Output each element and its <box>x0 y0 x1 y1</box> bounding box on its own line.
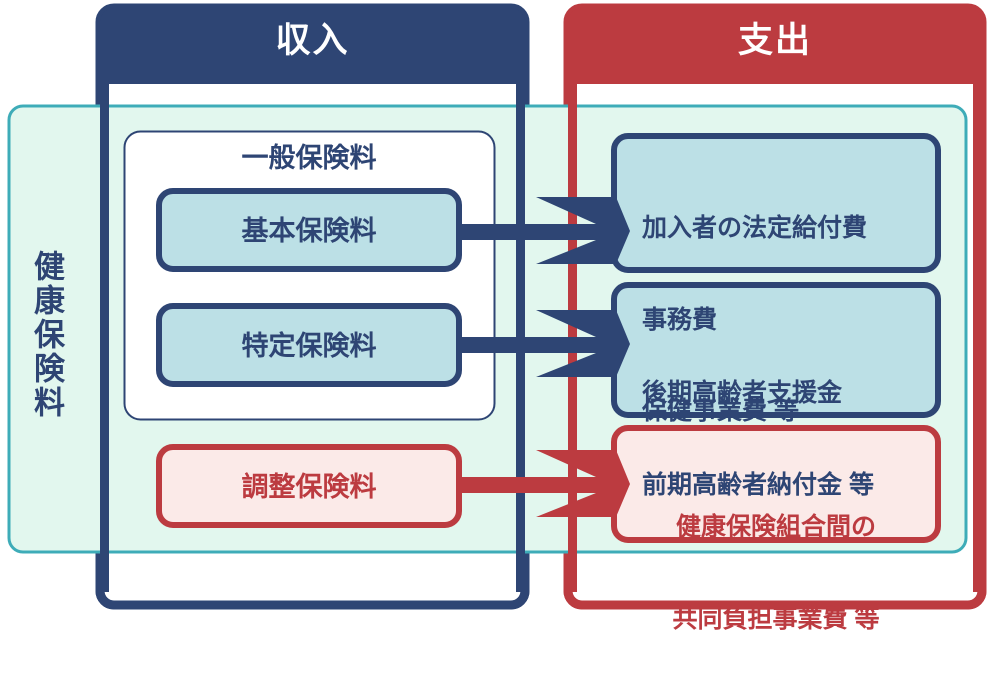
arrow-basic-to-benefits <box>458 197 630 264</box>
income-label-adjustment: 調整保険料 <box>159 471 459 504</box>
diagram-canvas: 収入 支出 健康保険料 一般保険料 基本保険料 特定保険料 調整保険料 加入者の… <box>0 0 990 630</box>
expenditure-joint-line-1: 健康保険組合間の <box>614 512 938 543</box>
general-premium-group-title: 一般保険料 <box>124 142 494 175</box>
income-header-title: 収入 <box>100 20 525 63</box>
arrow-basic-to-benefits-shape <box>458 197 630 264</box>
arrow-adjustment-to-joint <box>458 450 630 517</box>
expenditure-joint-line-2: 共同負担事業費 等 <box>614 604 938 635</box>
income-label-specific: 特定保険料 <box>159 330 459 363</box>
arrow-specific-to-support <box>458 310 630 377</box>
arrow-specific-to-support-shape <box>458 310 630 377</box>
expenditure-benefits-line-1: 加入者の法定給付費 <box>642 213 932 244</box>
expenditure-support-line-1: 後期高齢者支援金 <box>642 378 932 409</box>
expenditure-label-joint: 健康保険組合間の 共同負担事業費 等 <box>614 451 938 695</box>
expenditure-header-title: 支出 <box>568 20 982 63</box>
arrow-adjustment-to-joint-shape <box>458 450 630 517</box>
income-label-basic: 基本保険料 <box>159 215 459 248</box>
premium-side-label: 健康保険料 <box>31 250 62 420</box>
